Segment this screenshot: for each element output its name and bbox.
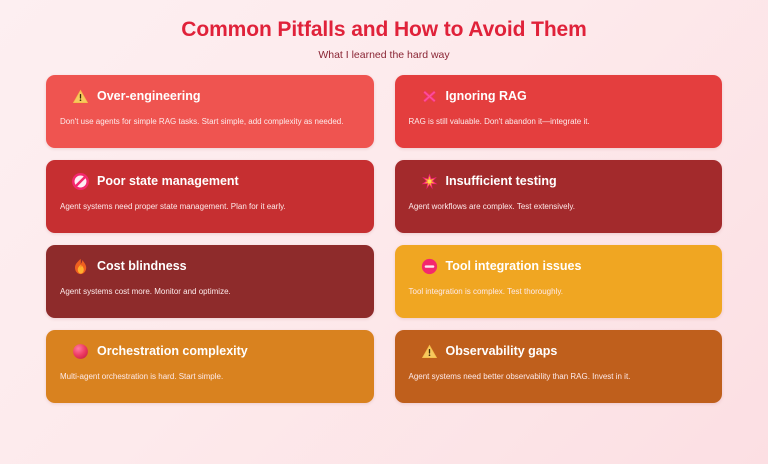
card-header: Poor state management <box>60 173 360 190</box>
pitfall-card[interactable]: Orchestration complexity Multi-agent orc… <box>46 330 374 403</box>
card-header: Tool integration issues <box>409 258 709 275</box>
card-description: Tool integration is complex. Test thorou… <box>409 284 709 300</box>
slide-root: Common Pitfalls and How to Avoid Them Wh… <box>0 0 768 464</box>
warning-triangle-icon <box>421 343 438 360</box>
card-description: Agent systems need proper state manageme… <box>60 199 360 215</box>
card-header: Over-engineering <box>60 88 360 105</box>
pitfall-card[interactable]: Cost blindness Agent systems cost more. … <box>46 245 374 318</box>
card-header: Observability gaps <box>409 343 709 360</box>
pitfall-card[interactable]: Over-engineering Don't use agents for si… <box>46 75 374 148</box>
card-header: Cost blindness <box>60 258 360 275</box>
pitfall-card[interactable]: Insufficient testing Agent workflows are… <box>395 160 723 233</box>
card-title: Over-engineering <box>97 90 201 104</box>
card-description: Don't use agents for simple RAG tasks. S… <box>60 114 360 130</box>
card-title: Ignoring RAG <box>446 90 527 104</box>
card-title: Tool integration issues <box>446 260 582 274</box>
card-title: Observability gaps <box>446 345 558 359</box>
page-subtitle: What I learned the hard way <box>46 49 722 61</box>
pitfall-card[interactable]: Tool integration issues Tool integration… <box>395 245 723 318</box>
card-header: Orchestration complexity <box>60 343 360 360</box>
card-title: Insufficient testing <box>446 175 557 189</box>
card-description: Agent systems cost more. Monitor and opt… <box>60 284 360 300</box>
card-header: Ignoring RAG <box>409 88 709 105</box>
slide-header: Common Pitfalls and How to Avoid Them Wh… <box>46 14 722 61</box>
pitfall-card[interactable]: Ignoring RAG RAG is still valuable. Don'… <box>395 75 723 148</box>
card-title: Orchestration complexity <box>97 345 248 359</box>
pitfall-card[interactable]: Observability gaps Agent systems need be… <box>395 330 723 403</box>
card-description: Agent systems need better observability … <box>409 369 709 385</box>
warning-triangle-icon <box>72 88 89 105</box>
card-header: Insufficient testing <box>409 173 709 190</box>
card-title: Cost blindness <box>97 260 187 274</box>
card-title: Poor state management <box>97 175 239 189</box>
card-description: Multi-agent orchestration is hard. Start… <box>60 369 360 385</box>
cross-mark-icon <box>421 88 438 105</box>
pitfall-card-grid: Over-engineering Don't use agents for si… <box>46 75 722 403</box>
sparkle-star-icon <box>421 173 438 190</box>
prohibited-icon <box>72 173 89 190</box>
no-entry-icon <box>421 258 438 275</box>
card-description: RAG is still valuable. Don't abandon it—… <box>409 114 709 130</box>
red-circle-icon <box>72 343 89 360</box>
fire-icon <box>72 258 89 275</box>
pitfall-card[interactable]: Poor state management Agent systems need… <box>46 160 374 233</box>
page-title: Common Pitfalls and How to Avoid Them <box>46 14 722 43</box>
card-description: Agent workflows are complex. Test extens… <box>409 199 709 215</box>
